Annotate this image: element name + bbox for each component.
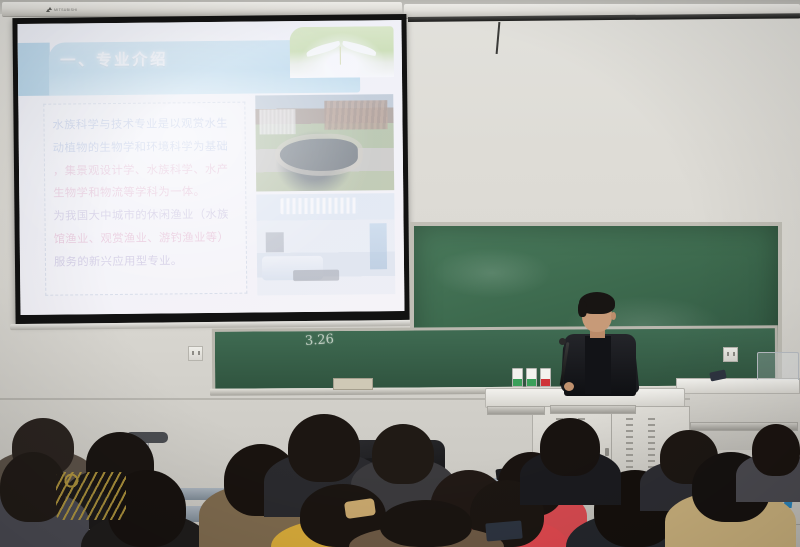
chalkboard-writing: 3.26: [305, 332, 335, 349]
sprout-leaf-right: [341, 40, 377, 56]
mitsubishi-logo-icon: [46, 7, 52, 13]
roller-brand-label: MITSUBISHI: [54, 8, 78, 12]
speaker: [556, 286, 648, 394]
audience-member-head: [752, 424, 800, 476]
microphone-head-icon: [559, 338, 566, 345]
wall-socket-left[interactable]: [188, 346, 203, 361]
slide-body-line: 馆渔业、观赏渔业、游钓渔业等）: [54, 227, 240, 252]
jacket-gold-embroidery: [56, 472, 126, 520]
projection-screen-surface: 一、专业介绍 水族科学与技术专业是以观赏水生 动植物的生物学和环境科学为基础 ，…: [17, 20, 404, 315]
presentation-slide: 一、专业介绍 水族科学与技术专业是以观赏水生 动植物的生物学和环境科学为基础 ，…: [17, 20, 404, 315]
podium-center-drawer[interactable]: [550, 405, 636, 414]
audience-member-head: [288, 414, 360, 482]
podium-left-drawer[interactable]: [487, 406, 545, 415]
interior-aquarium-photo: [256, 193, 395, 295]
milk-carton[interactable]: [526, 368, 537, 387]
projection-screen: 一、专业介绍 水族科学与技术专业是以观赏水生 动植物的生物学和环境科学为基础 ，…: [12, 14, 409, 324]
notebook-on-desk[interactable]: [485, 520, 522, 541]
audience-member-head: [380, 500, 472, 547]
slide-body-line: 为我国大中城市的休闲渔业（水族: [53, 204, 239, 229]
wall-art: [266, 233, 284, 253]
speaker-ear: [611, 312, 616, 320]
wall-socket-right[interactable]: [723, 347, 738, 362]
audience-member-head: [372, 424, 434, 484]
speaker-shirt: [585, 336, 611, 394]
title-band-accent: [18, 43, 51, 96]
slide-body-line: 水族科学与技术专业是以观赏水生: [52, 113, 238, 138]
podium-door-handle[interactable]: [605, 448, 609, 456]
pond-water: [280, 139, 358, 171]
audience-member-head: [540, 418, 600, 476]
aquarium-tank: [370, 223, 387, 269]
roller-brand-badge: MITSUBISHI: [46, 6, 108, 13]
slide-body-line: 服务的新兴应用型专业。: [54, 250, 240, 275]
slide-body-text: 水族科学与技术专业是以观赏水生 动植物的生物学和环境科学为基础 ，集景观设计学、…: [43, 102, 247, 296]
garden-pond-photo: [255, 94, 394, 191]
speaker-hair: [579, 292, 615, 314]
pergola-structure: [324, 100, 388, 129]
chalk-smudge: [432, 248, 552, 298]
coffee-table: [293, 270, 340, 282]
acrylic-lectern-panel: [757, 352, 799, 380]
chalk-tray-plate: [333, 378, 373, 390]
side-table: [676, 378, 800, 394]
lecture-hall-scene: MITSUBISHI 一、专业介绍 水族科学与技术专业是以观赏水生 动植物的生物…: [0, 0, 800, 547]
milk-carton[interactable]: [540, 368, 551, 387]
porch-railing: [259, 109, 295, 134]
slide-body-line: 生物学和物流等学科为一体。: [53, 181, 239, 206]
milk-carton[interactable]: [512, 368, 523, 387]
slide-title: 一、专业介绍: [60, 45, 329, 70]
ceiling-light-panel: [281, 198, 359, 215]
slide-body-line: ，集景观设计学、水族科学、水产: [53, 158, 239, 183]
sprout-stem: [339, 46, 341, 64]
slide-body-line: 动植物的生物学和环境科学为基础: [53, 136, 239, 161]
speaker-hand: [564, 382, 574, 391]
